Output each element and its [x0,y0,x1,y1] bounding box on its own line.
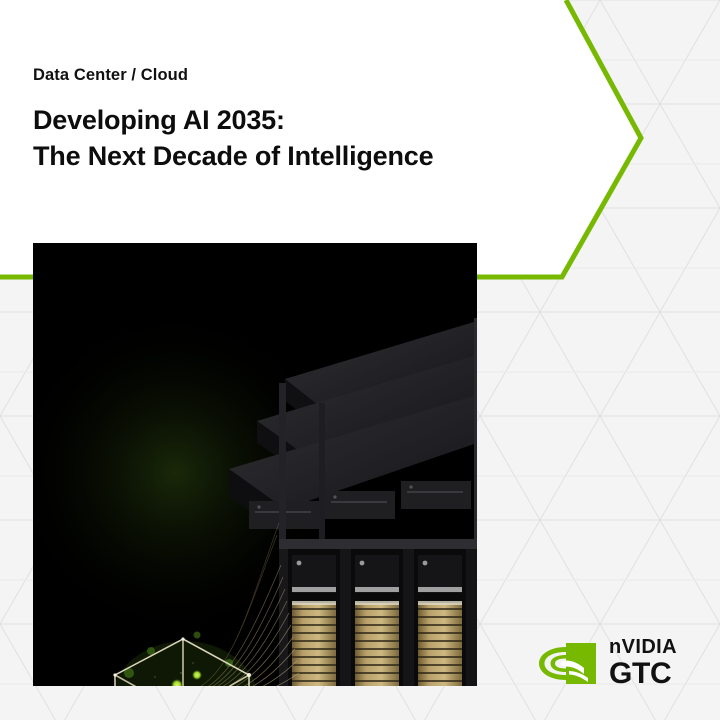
title-line-1: Developing AI 2035: [33,105,285,135]
logo-wordmark: nVIDIA GTC [609,637,677,689]
rack-column [414,549,466,686]
category-eyebrow: Data Center / Cloud [33,66,553,84]
hero-image [33,243,477,686]
rack-column [288,549,340,686]
gtc-session-card: Data Center / Cloud Developing AI 2035: … [0,0,720,720]
title-line-2: The Next Decade of Intelligence [33,138,553,174]
logo-event-text: GTC [609,659,677,689]
server-rack-bay [279,539,477,686]
logo-brand-text: nVIDIA [609,637,677,657]
rack-column [351,549,403,686]
page-title: Developing AI 2035: The Next Decade of I… [33,102,553,174]
nvidia-gtc-logo: nVIDIA GTC [536,634,706,692]
header-text-block: Data Center / Cloud Developing AI 2035: … [33,66,553,174]
nvidia-eye-icon [536,641,598,686]
